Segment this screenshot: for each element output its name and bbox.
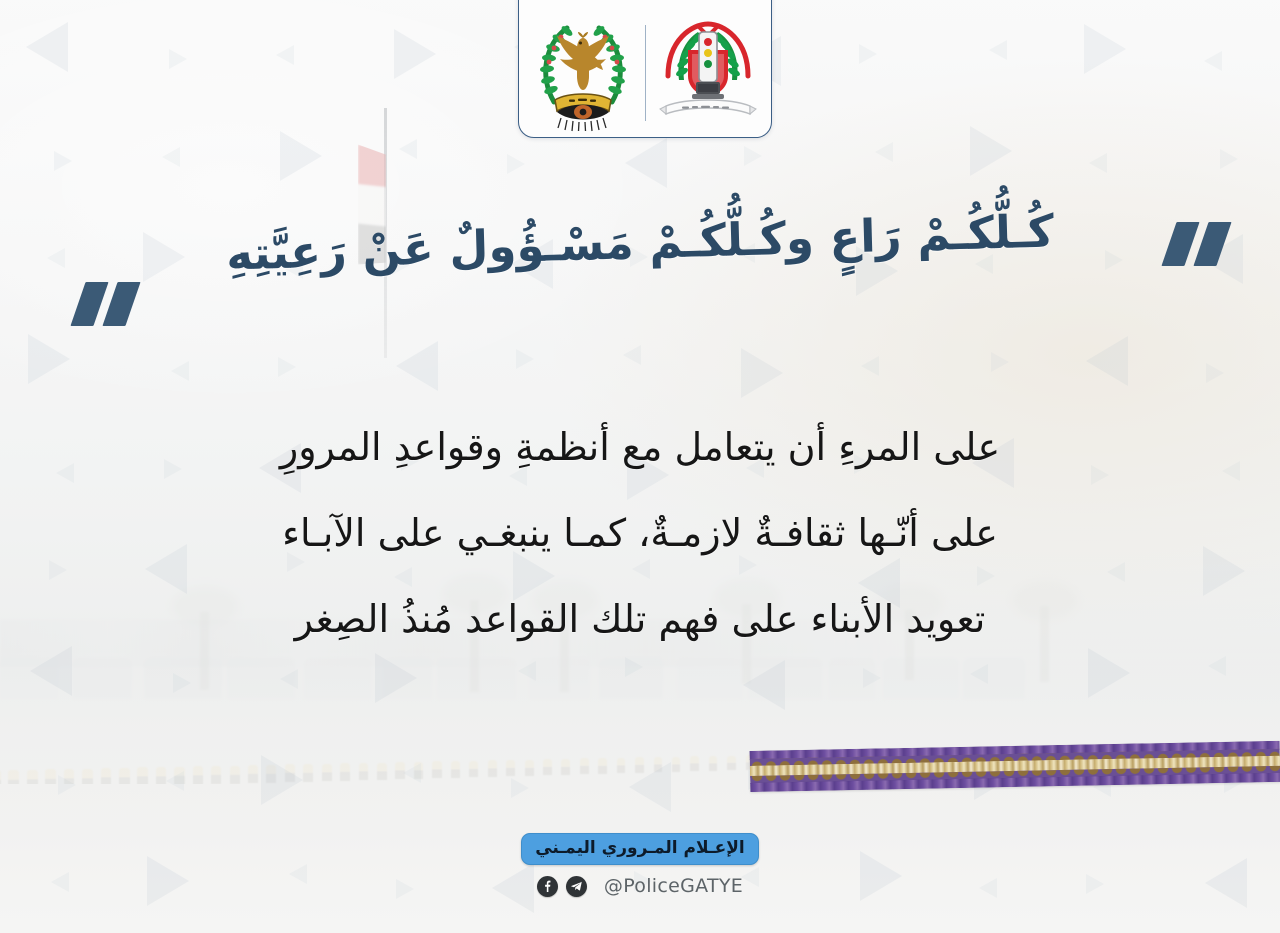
social-row: @PoliceGATYE xyxy=(0,875,1280,897)
telegram-icon[interactable] xyxy=(566,876,587,897)
body-line: على أنّـها ثقافـةٌ لازمـةٌ، كمـا ينبغـي … xyxy=(0,490,1280,576)
facebook-icon[interactable] xyxy=(537,876,558,897)
emblem-divider xyxy=(645,25,646,121)
emblem-card xyxy=(518,0,772,138)
ministry-interior-eagle-emblem xyxy=(521,9,645,137)
social-handle: @PoliceGATYE xyxy=(604,875,743,897)
poster-canvas: كُـلُّكُـمْ رَاعٍ وكُـلُّكُـمْ مَسْـؤُول… xyxy=(0,0,1280,933)
headline-quote: كُـلُّكُـمْ رَاعٍ وكُـلُّكُـمْ مَسْـؤُول… xyxy=(0,214,1280,273)
body-paragraph: على المرءِ أن يتعامل مع أنظمةِ وقواعدِ ا… xyxy=(0,404,1280,662)
brand-badge: الإعـلام المـروري اليمـني xyxy=(521,833,759,865)
quote-mark-close xyxy=(78,282,133,326)
headline-quote-text: كُـلُّكُـمْ رَاعٍ وكُـلُّكُـمْ مَسْـؤُول… xyxy=(225,202,1054,284)
traffic-police-emblem xyxy=(646,9,770,137)
body-line: تعويد الأبناء على فهم تلك القواعد مُنذُ … xyxy=(0,576,1280,662)
body-line: على المرءِ أن يتعامل مع أنظمةِ وقواعدِ ا… xyxy=(0,404,1280,490)
footer: الإعـلام المـروري اليمـني @PoliceGATYE xyxy=(0,833,1280,897)
